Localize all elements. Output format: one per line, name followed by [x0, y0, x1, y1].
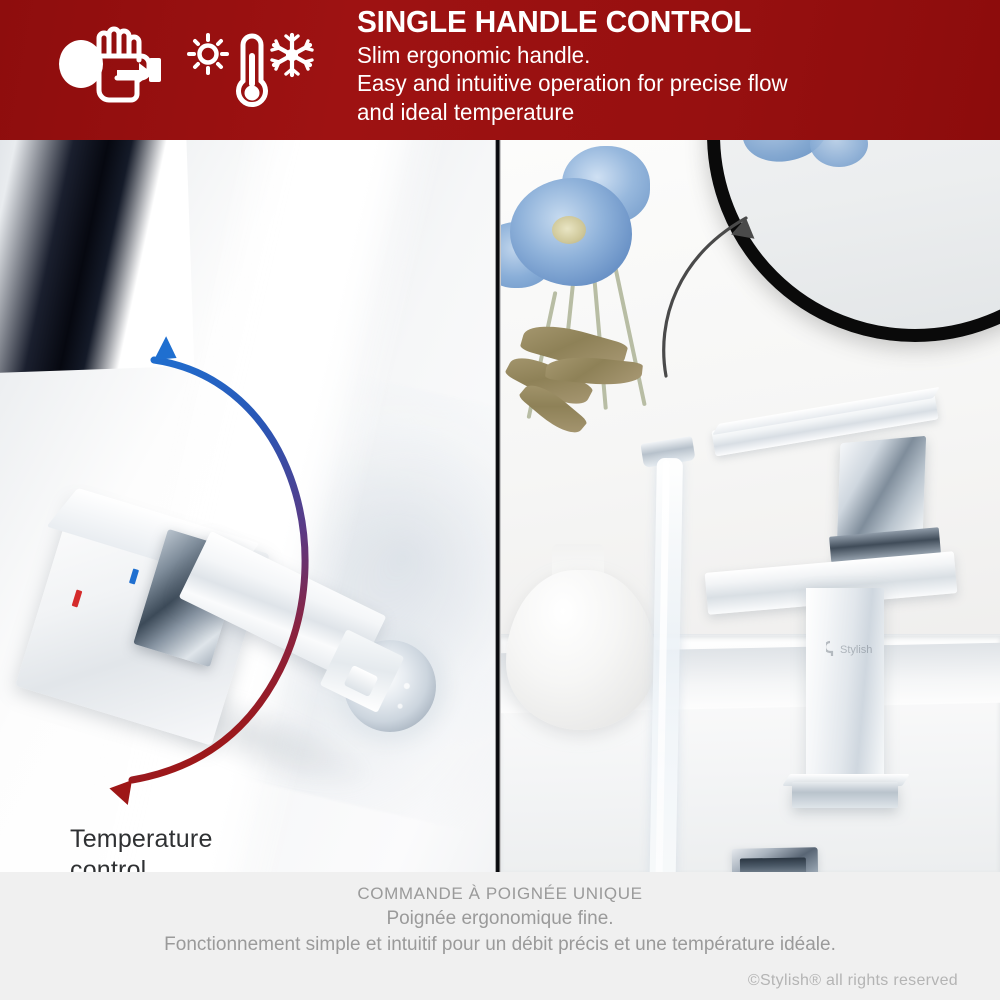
flow-lift-arrow	[650, 200, 780, 380]
snowflake-icon	[272, 35, 312, 75]
stylish-brand-logo: Stylish	[826, 638, 880, 658]
product-infographic: SINGLE HANDLE CONTROL Slim ergonomic han…	[0, 0, 1000, 1000]
footer-fr-title: COMMANDE À POIGNÉE UNIQUE	[0, 882, 1000, 906]
photo-stage: Temperature control	[0, 140, 1000, 872]
footer-fr-line-2: Fonctionnement simple et intuitif pour u…	[0, 931, 1000, 958]
footer-french-text: COMMANDE À POIGNÉE UNIQUE Poignée ergono…	[0, 882, 1000, 958]
caption-temperature-control: Temperature control	[70, 824, 213, 872]
faucet-plinth	[792, 782, 898, 808]
hand-grip-handle-icon	[55, 24, 175, 116]
header-icon-group	[55, 22, 325, 118]
panel-divider	[495, 140, 501, 872]
temperature-range-icon	[187, 27, 315, 113]
header-text-block: SINGLE HANDLE CONTROL Slim ergonomic han…	[357, 4, 990, 126]
faucet-column	[806, 588, 884, 788]
temperature-swing-arrow	[90, 310, 390, 810]
header-banner: SINGLE HANDLE CONTROL Slim ergonomic han…	[0, 0, 1000, 140]
flower-center	[552, 216, 586, 244]
footer-band: COMMANDE À POIGNÉE UNIQUE Poignée ergono…	[0, 872, 1000, 1000]
header-line-3: and ideal temperature	[357, 98, 958, 127]
brand-text: Stylish	[840, 644, 872, 656]
footer-fr-line-1: Poignée ergonomique fine.	[0, 906, 1000, 931]
sun-icon	[189, 35, 227, 73]
thermometer-icon	[239, 36, 266, 105]
mirror-flower-2	[810, 140, 868, 167]
header-line-2: Easy and intuitive operation for precise…	[357, 69, 958, 98]
vase	[506, 570, 656, 730]
copyright-notice: ©Stylish® all rights reserved	[748, 972, 958, 990]
overflow-slot-inner	[740, 857, 806, 872]
panel-flow-control: Stylish Flow control	[500, 140, 1000, 872]
page-title: SINGLE HANDLE CONTROL	[357, 4, 965, 40]
header-subtitle: Slim ergonomic handle.	[357, 41, 958, 69]
panel-temperature-control: Temperature control	[0, 140, 497, 872]
